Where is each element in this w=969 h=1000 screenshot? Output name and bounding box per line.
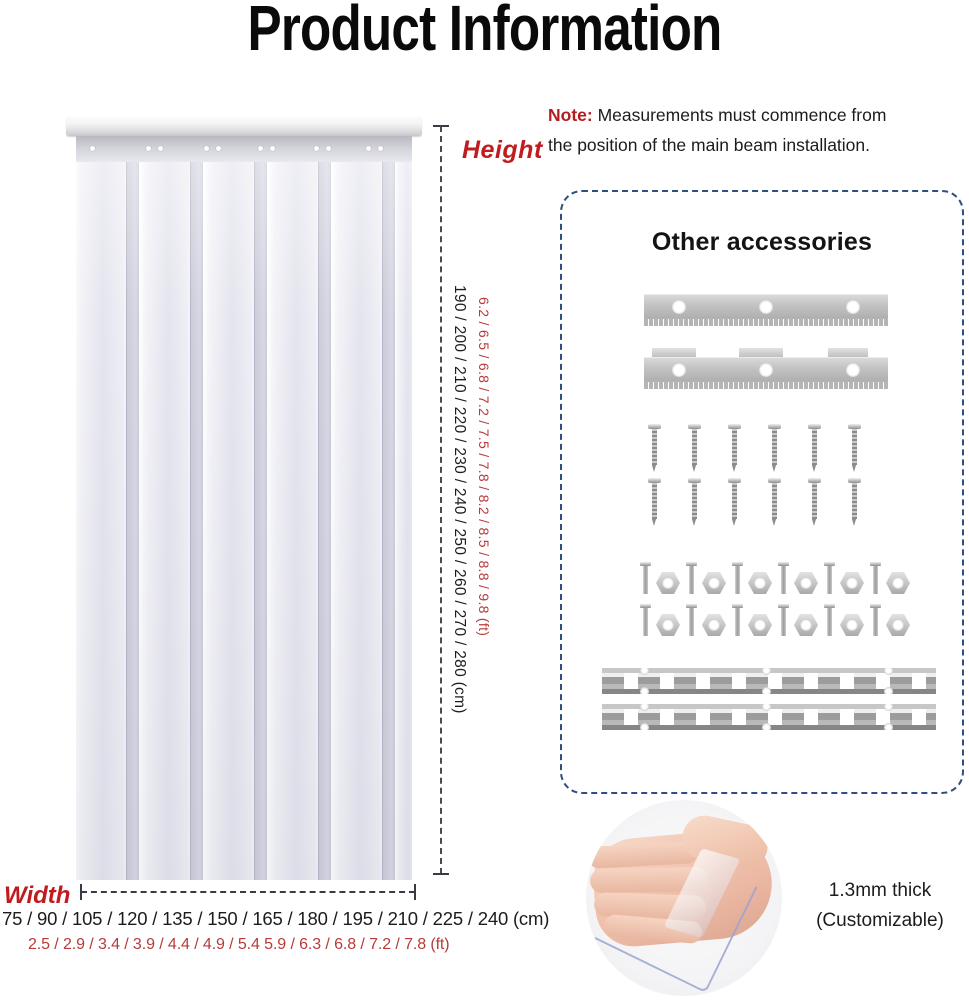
bracket-hole-icon [759,363,773,377]
bolt-icon [824,604,835,638]
nut-icon [748,572,772,594]
nut-icon [748,614,772,636]
height-measurement-ruler [433,120,449,880]
nut-icon [702,572,726,594]
height-ft-values: 6.2 / 6.5 / 6.8 / 7.2 / 7.5 / 7.8 / 8.2 … [476,297,492,636]
screw-icon [768,424,781,472]
pvc-strips-group [76,162,412,880]
bracket-zigzag-edge [644,318,888,326]
bolt-icon [640,562,651,596]
bracket-zigzag-edge [644,381,888,389]
screw-icon [648,478,661,526]
screw-icon [808,424,821,472]
note-block: Note: Measurements must commence from th… [548,100,969,160]
pvc-strip [76,162,132,880]
screw-icon [688,424,701,472]
nut-icon [702,614,726,636]
note-keyword: Note: [548,105,593,125]
ruler-dashed-line [440,126,442,874]
bolt-icon [824,562,835,596]
screw-icon [848,478,861,526]
beam-mounting-plate [76,136,412,162]
beam-hole-icon [270,146,275,151]
bolt-icon [870,604,881,638]
bracket-tab [739,348,783,357]
bolt-icon [778,604,789,638]
bolt-icon [732,562,743,596]
nut-icon [886,572,910,594]
mounting-bracket-plain-icon [644,294,888,328]
bracket-tab [828,348,868,357]
accessories-title: Other accessories [562,228,962,257]
bracket-hole-icon [672,300,686,314]
bolt-icon [686,604,697,638]
screw-icon [768,478,781,526]
thickness-line-1: 1.3mm thick [800,876,960,906]
nut-icon [794,614,818,636]
thickness-text: 1.3mm thick (Customizable) [800,876,960,936]
pvc-strip [394,162,412,880]
nut-icon [840,572,864,594]
beam-hole-icon [366,146,371,151]
ruler-end-cap-bottom [433,873,449,875]
main-beam [66,116,422,136]
nut-icon [794,572,818,594]
pvc-strip [138,162,196,880]
height-label: Height [462,136,543,165]
bracket-hole-icon [759,300,773,314]
width-cm-values: 75 / 90 / 105 / 120 / 135 / 150 / 165 / … [2,908,482,930]
page-title: Product Information [97,0,872,60]
pvc-strip [266,162,324,880]
screw-icon [808,478,821,526]
screw-icon [688,478,701,526]
nut-icon [886,614,910,636]
beam-hole-icon [378,146,383,151]
bracket-hole-icon [846,300,860,314]
nut-icon [656,572,680,594]
screw-icon [648,424,661,472]
ruler-dashed-line [81,891,415,893]
pvc-strip [330,162,388,880]
aluminum-rail-icon [602,668,936,694]
hand-holding-pvc-strip-photo [586,800,782,996]
height-cm-values: 190 / 200 / 210 / 220 / 230 / 240 / 250 … [450,285,468,714]
bolt-icon [778,562,789,596]
beam-hole-icon [146,146,151,151]
beam-hole-icon [158,146,163,151]
width-label: Width [4,882,70,910]
thickness-line-2: (Customizable) [800,906,960,936]
screw-icon [728,478,741,526]
pvc-strip-curtain-illustration [66,116,422,880]
note-line-2: the position of the main beam installati… [548,135,870,155]
bracket-hole-icon [672,363,686,377]
beam-hole-icon [326,146,331,151]
beam-hole-icon [258,146,263,151]
accessories-panel: Other accessories [560,190,964,794]
screw-icon [848,424,861,472]
note-line-1: Measurements must commence from [593,105,887,125]
bolt-icon [686,562,697,596]
nut-icon [656,614,680,636]
beam-hole-icon [216,146,221,151]
beam-hole-icon [204,146,209,151]
aluminum-rail-icon [602,704,936,730]
beam-hole-icon [90,146,95,151]
mounting-bracket-tabbed-icon [644,357,888,391]
width-ft-values: 2.5 / 2.9 / 3.4 / 3.9 / 4.4 / 4.9 / 5.4 … [28,936,498,954]
width-measurement-ruler [78,884,418,900]
beam-hole-icon [314,146,319,151]
ruler-end-cap-right [414,884,416,900]
bracket-hole-icon [846,363,860,377]
bolt-icon [870,562,881,596]
nut-icon [840,614,864,636]
pvc-strip [202,162,260,880]
bracket-tab [652,348,696,357]
bolt-icon [732,604,743,638]
screw-icon [728,424,741,472]
bolt-icon [640,604,651,638]
